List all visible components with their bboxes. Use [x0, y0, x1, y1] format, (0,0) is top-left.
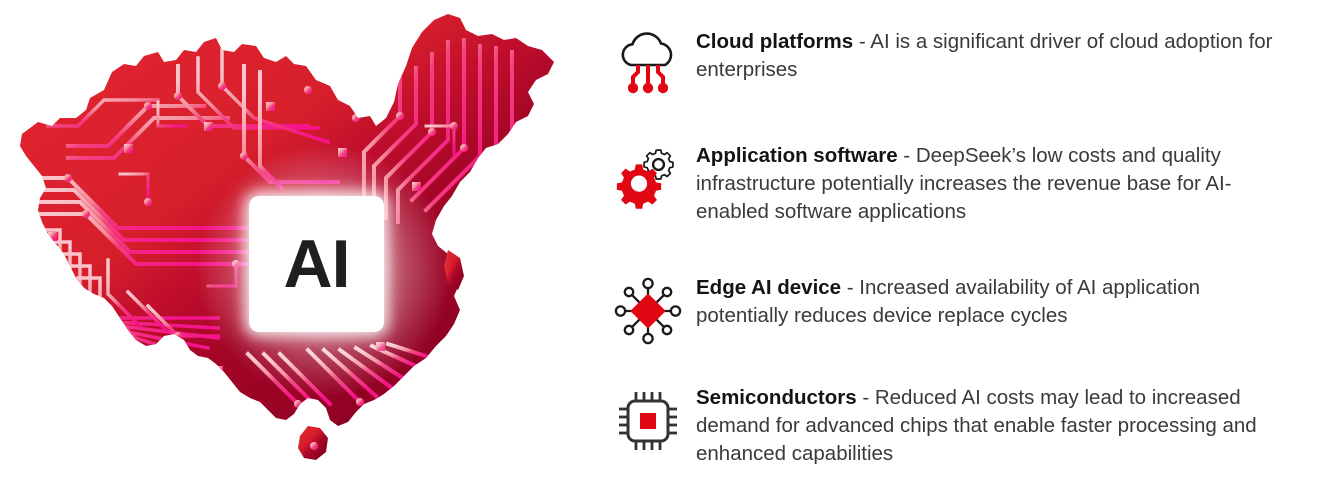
bullet-separator: - [841, 276, 859, 299]
edge-network-node-icon [611, 274, 685, 348]
bullet-item-cloud-platforms: Cloud platforms - AI is a significant dr… [600, 26, 1315, 102]
bullet-title: Cloud platforms [696, 30, 853, 53]
bullet-item-application-software: Application software - DeepSeek’s low co… [600, 140, 1315, 226]
bullet-icon-slot [600, 26, 696, 102]
bullet-separator: - [857, 386, 875, 409]
bullet-text: Application software - DeepSeek’s low co… [696, 140, 1276, 226]
bullet-icon-slot [600, 140, 696, 216]
infographic-canvas: AI Cloud platforms - A [0, 0, 1321, 487]
bullet-icon-slot [600, 382, 696, 458]
gears-icon [611, 142, 685, 216]
china-ai-map-graphic: AI [0, 0, 600, 487]
bullet-text: Cloud platforms - AI is a significant dr… [696, 26, 1276, 84]
bullet-title: Application software [696, 144, 898, 167]
bullet-item-semiconductors: Semiconductors - Reduced AI costs may le… [600, 382, 1315, 468]
microchip-icon [611, 384, 685, 458]
ai-chip-badge: AI [249, 196, 384, 332]
cloud-network-icon [611, 28, 685, 102]
bullet-icon-slot [600, 272, 696, 348]
ai-chip-label: AI [284, 230, 350, 298]
impact-bullet-list: Cloud platforms - AI is a significant dr… [600, 0, 1321, 487]
bullet-item-edge-ai-device: Edge AI device - Increased availability … [600, 272, 1315, 348]
bullet-text: Edge AI device - Increased availability … [696, 272, 1276, 330]
bullet-separator: - [898, 144, 916, 167]
bullet-title: Edge AI device [696, 276, 841, 299]
bullet-text: Semiconductors - Reduced AI costs may le… [696, 382, 1276, 468]
bullet-title: Semiconductors [696, 386, 857, 409]
bullet-separator: - [853, 30, 870, 53]
